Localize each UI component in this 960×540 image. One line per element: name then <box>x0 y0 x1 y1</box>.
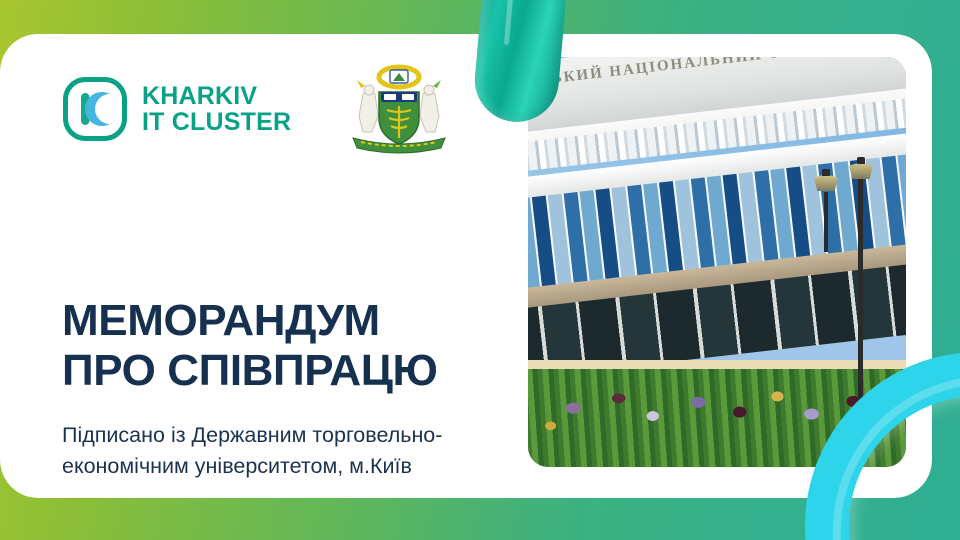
kharkiv-it-cluster-logo[interactable]: KHARKIV IT CLUSTER <box>62 76 291 142</box>
university-building-photo: ЬКИЙ НАЦІОНАЛЬНИЙ ТОРГОВЕ <box>528 57 906 467</box>
subtitle-line-1: Підписано із Державним торговельно- <box>62 420 542 451</box>
page-subtitle: Підписано із Державним торговельно- екон… <box>62 420 542 481</box>
photo-lamp-head-left <box>811 169 841 193</box>
headline-line-1: МЕМОРАНДУМ <box>62 296 532 346</box>
kharkiv-logo-line1: KHARKIV <box>142 83 291 109</box>
subtitle-line-2: економічним університетом, м.Київ <box>62 451 542 482</box>
slide-canvas: KHARKIV IT CLUSTER <box>0 0 960 540</box>
coat-of-arms-icon <box>343 64 455 154</box>
page-title: МЕМОРАНДУМ ПРО СПІВПРАЦЮ <box>62 296 532 396</box>
photo-lamp-arm-left <box>824 192 828 252</box>
photo-lamp-post-right <box>858 177 863 417</box>
logo-row: KHARKIV IT CLUSTER <box>62 64 455 154</box>
headline-line-2: ПРО СПІВПРАЦЮ <box>62 346 532 396</box>
kharkiv-it-cluster-monogram-icon <box>62 76 128 142</box>
kharkiv-logo-line2: IT CLUSTER <box>142 109 291 135</box>
photo-lamp-head-right <box>846 157 876 181</box>
